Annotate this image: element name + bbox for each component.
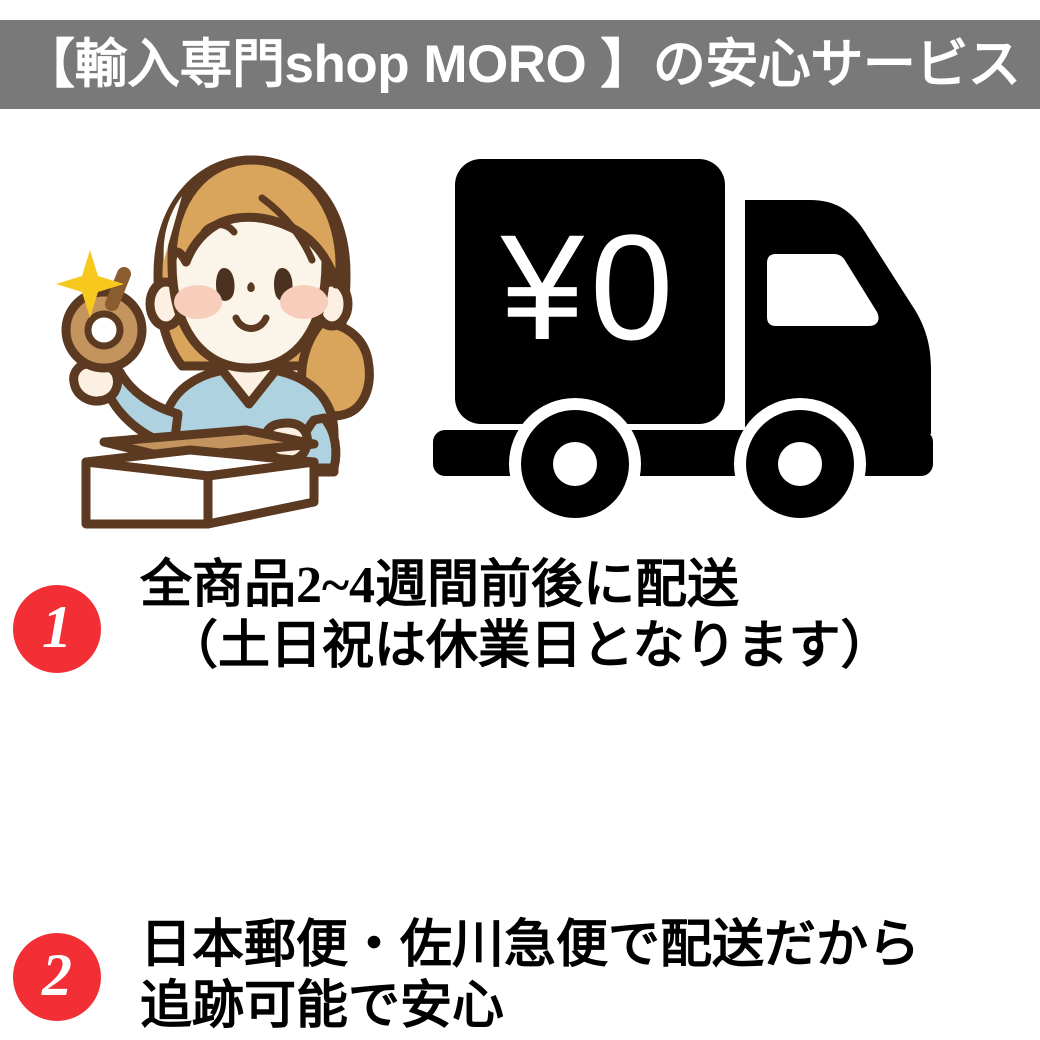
staff-illustration-svg [46,142,416,532]
feature-2-line-2: 追跡可能で安心 [140,976,920,1037]
promo-banner: 【輸入専門shop MORO 】の安心サービス [0,0,1040,1040]
truck-rear-hubcap [553,442,597,486]
magnifier-glass [88,314,120,346]
feature-1-line-1: 全商品2~4週間前後に配送 [140,555,892,616]
cheek-right [280,285,328,319]
box-front [86,462,208,524]
feature-list: 1 全商品2~4週間前後に配送 （土日祝は休業日となります） 2 日本郵便・佐川… [0,545,1040,720]
feature-badge-2: 2 [13,933,101,1021]
box-side [208,462,314,524]
feature-badge-1: 1 [13,585,101,673]
truck-price-label: ¥0 [500,203,680,371]
truck-front-hubcap [778,442,822,486]
staff-inspecting-box-illustration [46,142,416,532]
feature-1-line-2: （土日祝は休業日となります） [140,616,892,677]
header-bar: 【輸入専門shop MORO 】の安心サービス [0,20,1040,109]
feature-text-2: 日本郵便・佐川急便で配送だから 追跡可能で安心 [140,915,920,1038]
page-title: 【輸入専門shop MORO 】の安心サービス [22,38,1020,91]
cheek-left [174,285,222,319]
feature-text-1: 全商品2~4週間前後に配送 （土日祝は休業日となります） [140,555,892,678]
feature-item-1: 1 全商品2~4週間前後に配送 （土日祝は休業日となります） [0,545,1040,720]
free-shipping-truck-illustration: ¥0 [415,134,975,524]
illustration-zone: ¥0 [0,118,1040,538]
feature-2-line-1: 日本郵便・佐川急便で配送だから [140,915,920,976]
truck-illustration-svg: ¥0 [415,134,975,524]
